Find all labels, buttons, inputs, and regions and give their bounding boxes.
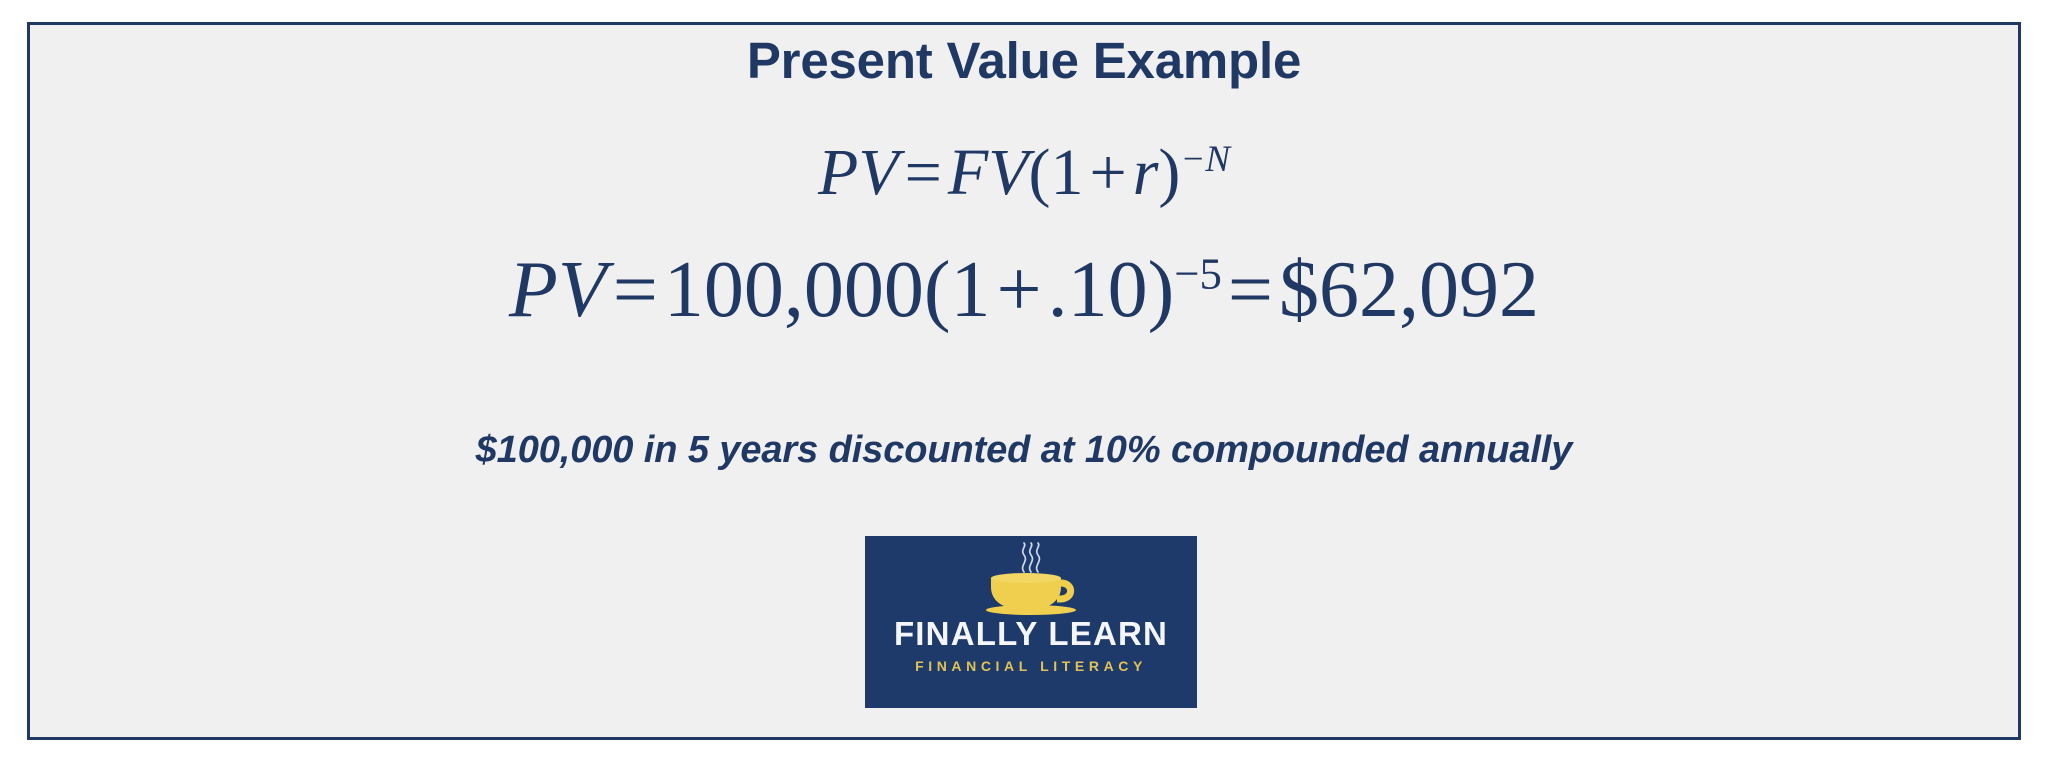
formula-worked-equals-2: =	[1222, 246, 1279, 334]
formula-worked-one: 1	[950, 246, 990, 334]
formula-worked-lhs: PV	[509, 246, 607, 334]
formula-worked-equals: =	[607, 246, 664, 334]
formula-present-value-worked: PV=100,000(1+.10)−5=$62,092	[30, 245, 2018, 336]
formula-worked-exponent: −5	[1174, 248, 1222, 298]
formula-worked-plus: +	[990, 246, 1047, 334]
page-title: Present Value Example	[30, 34, 2018, 88]
formula-general-fv: FV	[948, 136, 1029, 209]
formula-worked-open-paren: (	[924, 246, 951, 334]
formula-present-value-general: PV=FV(1+r)−N	[30, 135, 2018, 211]
formula-general-lhs: PV	[818, 136, 899, 209]
formula-caption: $100,000 in 5 years discounted at 10% co…	[30, 429, 2018, 472]
coffee-cup-icon	[865, 540, 1197, 618]
formula-worked-future-value: 100,000	[664, 246, 924, 334]
logo-tagline: FINANCIAL LITERACY	[865, 658, 1197, 674]
logo-wordmark: FINALLY LEARN	[865, 615, 1197, 653]
slide-root: Present Value Example PV=FV(1+r)−N PV=10…	[0, 0, 2048, 780]
formula-general-one: 1	[1051, 136, 1084, 209]
formula-general-rate: r	[1133, 136, 1159, 209]
formula-general-close-paren: )	[1158, 136, 1180, 209]
formula-worked-rate: .10	[1048, 246, 1148, 334]
slide-card: Present Value Example PV=FV(1+r)−N PV=10…	[27, 22, 2021, 740]
formula-general-open-paren: (	[1029, 136, 1051, 209]
formula-worked-result: $62,092	[1279, 246, 1539, 334]
finally-learn-logo: FINALLY LEARN FINANCIAL LITERACY	[865, 536, 1197, 708]
formula-general-exponent: −N	[1180, 138, 1230, 179]
formula-general-equals: =	[899, 136, 948, 209]
formula-general-plus: +	[1084, 136, 1133, 209]
formula-worked-close-paren: )	[1148, 246, 1175, 334]
